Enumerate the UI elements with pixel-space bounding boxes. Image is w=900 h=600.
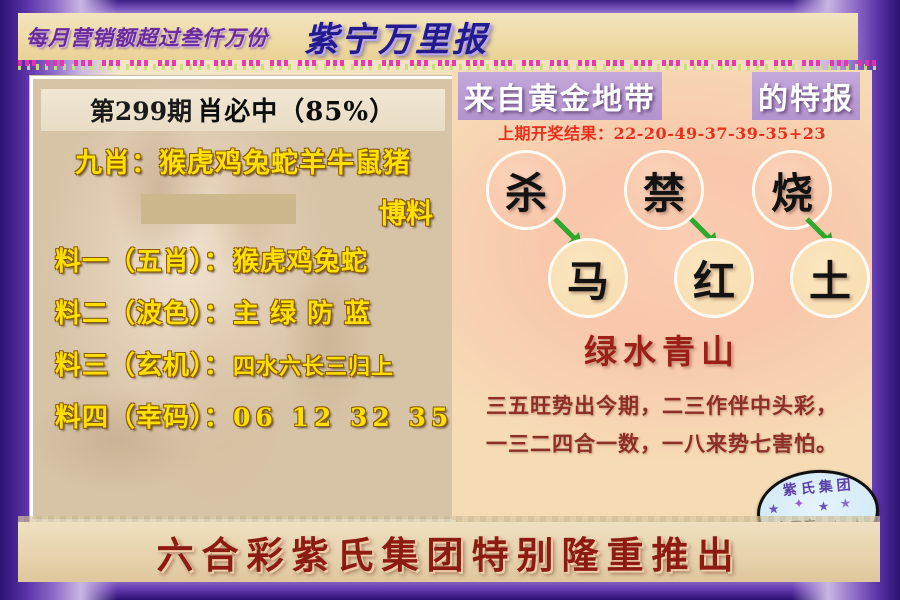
bottom-banner-text: 六合彩紫氏集团特别隆重推出	[157, 525, 742, 579]
forecast-item-4-label: 料四（幸码）：	[55, 403, 231, 433]
decorative-dot-strip	[18, 60, 880, 70]
bo-liao-row: 博料	[41, 192, 445, 226]
left-forecast-panel: 第299期 肖必中（85%） 九肖：猴虎鸡兔蛇羊牛鼠猪 博料 料一（五肖）：猴虎…	[30, 76, 456, 522]
circle-bottom-2: 红	[674, 238, 754, 318]
poster-root: 每月营销额超过叁仟万份 紫宁万里报 第299期 肖必中（85%） 九肖：猴虎鸡兔…	[0, 0, 900, 600]
verse-line-2: 一三二四合一数，一八来势七害怕。	[452, 428, 872, 458]
forecast-item-2: 料二（波色）：主 绿 防 蓝	[41, 293, 445, 330]
star-icon: ★	[767, 503, 779, 517]
issue-header-row: 第299期 肖必中（85%）	[41, 89, 445, 131]
forecast-item-3-value: 四水六长三归上	[233, 354, 394, 380]
star-icon: ★	[817, 500, 829, 514]
circle-bottom-1: 马	[548, 238, 628, 318]
report-type-heading: 的特报	[752, 72, 860, 120]
tagline-text: 每月营销额超过叁仟万份	[26, 22, 268, 52]
page-title: 紫宁万里报	[304, 12, 489, 61]
circle-bottom-3: 土	[790, 238, 870, 318]
prediction-circles-group: 杀 禁 烧	[452, 146, 872, 336]
last-draw-value: 22-20-49-37-39-35+23	[614, 124, 826, 143]
star-icon: ✦	[793, 498, 805, 512]
forecast-item-1-value: 猴虎鸡兔蛇	[233, 247, 368, 277]
right-special-report-panel: 来自黄金地带 的特报 上期开奖结果：22-20-49-37-39-35+23 杀…	[452, 70, 872, 520]
forecast-item-3: 料三（玄机）：四水六长三归上	[41, 345, 445, 382]
nine-zodiac-row: 九肖：猴虎鸡兔蛇羊牛鼠猪	[41, 141, 445, 180]
forecast-item-1-label: 料一（五肖）：	[55, 247, 231, 277]
right-panel-header-row: 来自黄金地带 的特报	[452, 72, 872, 116]
nine-zodiac-label: 九肖：	[75, 148, 159, 179]
bo-liao-text: 博料	[379, 199, 433, 230]
report-source-heading: 来自黄金地带	[458, 72, 662, 120]
issue-number: 第299期	[90, 97, 192, 126]
forecast-item-3-label: 料三（玄机）：	[55, 351, 231, 381]
forecast-item-1: 料一（五肖）：猴虎鸡兔蛇	[41, 241, 445, 278]
star-icon: ★	[839, 497, 851, 511]
forecast-item-2-label: 料二（波色）：	[55, 299, 231, 329]
redaction-block	[141, 194, 296, 224]
lucky-phrase: 绿水青山	[452, 325, 872, 373]
forecast-item-4-value: 06 12 32 35	[233, 403, 453, 432]
last-draw-label: 上期开奖结果：	[498, 124, 614, 143]
top-banner: 每月营销额超过叁仟万份 紫宁万里报	[18, 13, 858, 60]
verse-line-1: 三五旺势出今期，二三作伴中头彩，	[452, 390, 872, 420]
forecast-item-4: 料四（幸码）：06 12 32 35	[41, 397, 445, 434]
bottom-banner: 六合彩紫氏集团特别隆重推出	[18, 522, 880, 582]
issue-hit-rate: 肖必中（85%）	[197, 97, 396, 127]
nine-zodiac-value: 猴虎鸡兔蛇羊牛鼠猪	[159, 148, 411, 179]
forecast-item-2-value: 主 绿 防 蓝	[233, 299, 371, 329]
last-draw-result: 上期开奖结果：22-20-49-37-39-35+23	[452, 120, 872, 144]
